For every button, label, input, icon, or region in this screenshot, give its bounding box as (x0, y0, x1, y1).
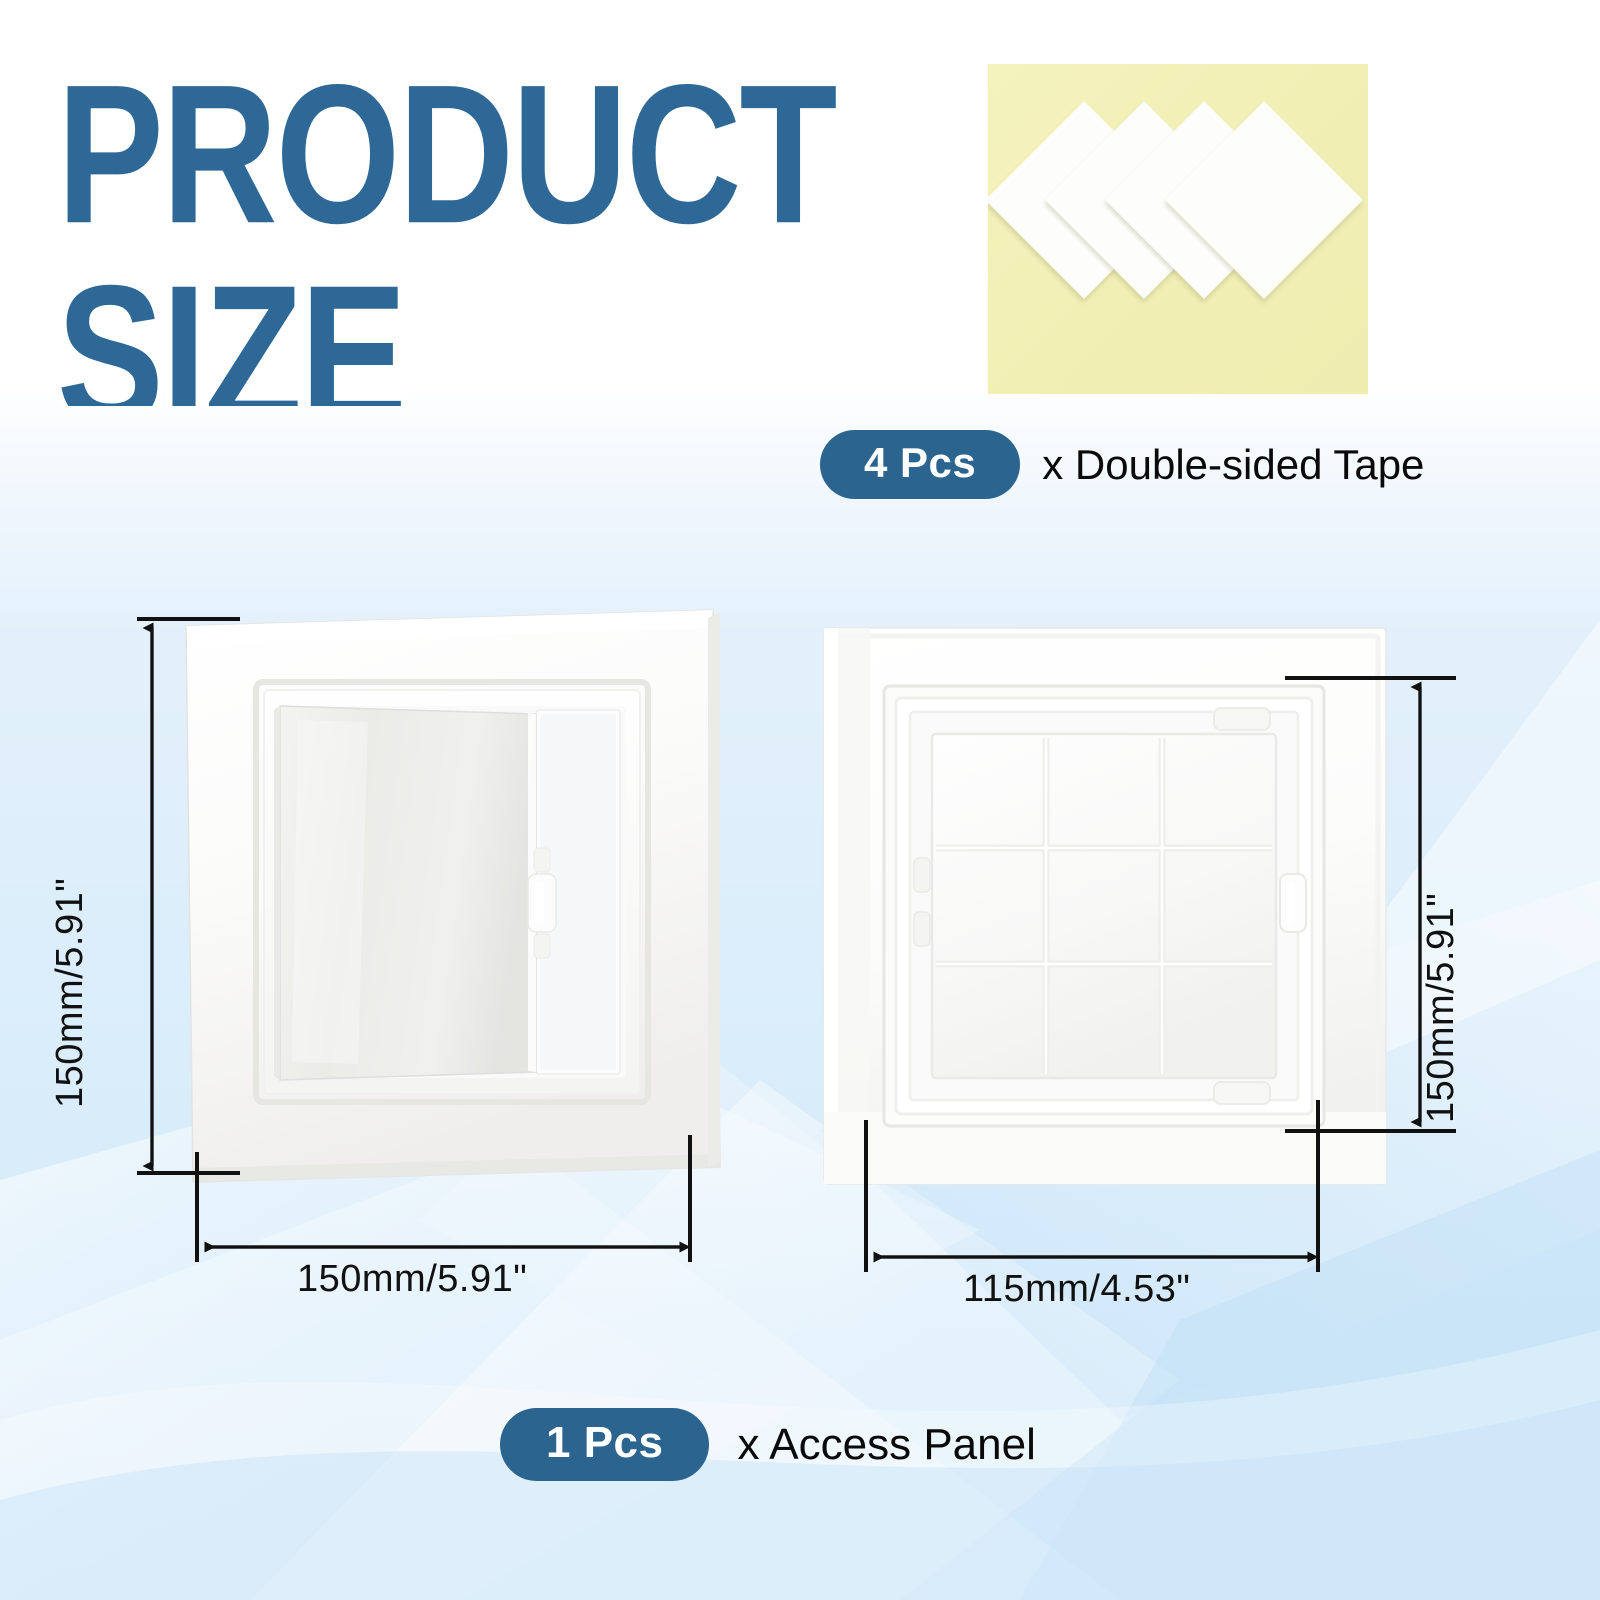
dimension-label-left-height: 150mm/5.91" (49, 878, 92, 1108)
badge-access-panel: 1 Pcs x Access Panel (500, 1408, 1036, 1481)
access-panel-front-artwork (168, 602, 728, 1202)
badge-count-pill-tape: 4 Pcs (820, 430, 1020, 499)
dimension-label-right-width: 115mm/4.53" (963, 1268, 1190, 1311)
badge-count-pill-panel: 1 Pcs (500, 1408, 709, 1481)
access-panel-front-view (168, 602, 728, 1202)
access-panel-back-artwork (810, 612, 1402, 1202)
page-title: PRODUCT PRODUCT SIZE (44, 56, 944, 406)
badge-label-panel: x Access Panel (737, 1420, 1035, 1470)
dimension-label-right-height: 150mm/5.91" (1420, 893, 1463, 1123)
title-artwork: PRODUCT PRODUCT SIZE (44, 56, 944, 406)
title-line-2: SIZE (57, 245, 405, 406)
access-panel-back-view (810, 612, 1402, 1202)
badge-label-tape: x Double-sided Tape (1042, 441, 1424, 489)
infographic-canvas: PRODUCT PRODUCT SIZE 4 Pcs x Double-side… (0, 0, 1600, 1600)
dimension-label-left-width: 150mm/5.91" (297, 1258, 527, 1301)
badge-double-sided-tape: 4 Pcs x Double-sided Tape (820, 430, 1424, 499)
double-sided-tape-photo (988, 64, 1368, 394)
